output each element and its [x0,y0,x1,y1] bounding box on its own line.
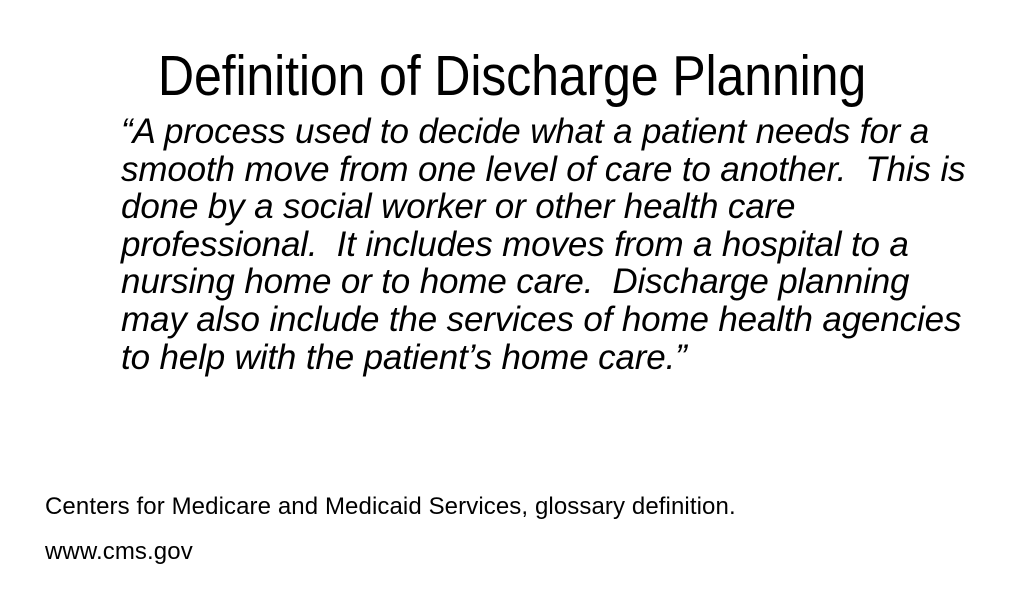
quote-line: to help with the patient’s home care.” [121,339,981,377]
page-title: Definition of Discharge Planning [61,44,962,108]
quote-body: “A process used to decide what a patient… [121,113,981,376]
quote-line: done by a social worker or other health … [121,188,981,226]
quote-line: smooth move from one level of care to an… [121,151,981,189]
source-citation: Centers for Medicare and Medicaid Servic… [45,484,985,574]
source-url: www.cms.gov [45,529,985,574]
source-attribution: Centers for Medicare and Medicaid Servic… [45,484,985,529]
quote-line: professional. It includes moves from a h… [121,226,981,264]
slide-canvas: Definition of Discharge Planning “A proc… [0,0,1024,600]
quote-line: may also include the services of home he… [121,301,981,339]
quote-line: nursing home or to home care. Discharge … [121,263,981,301]
quote-line: “A process used to decide what a patient… [121,113,981,151]
